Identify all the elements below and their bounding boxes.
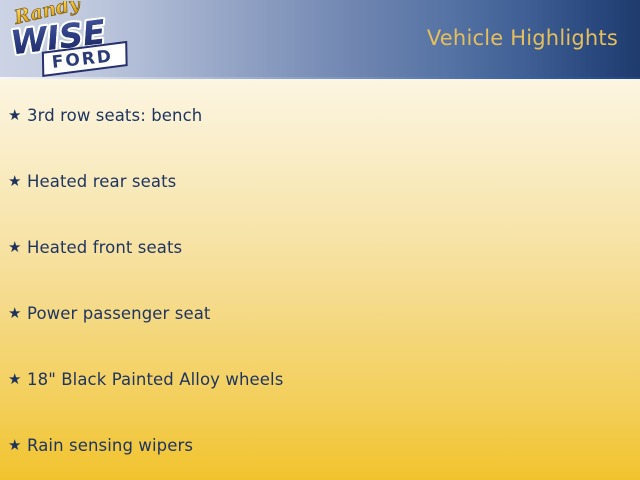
vehicle-highlights-slide: Randy WISE WISE FORD Vehicle Highlights … [0,0,640,480]
page-title: Vehicle Highlights [427,26,618,50]
list-item-label: 18" Black Painted Alloy wheels [27,370,283,389]
list-item: ★ 3rd row seats: bench [8,102,202,128]
star-icon: ★ [8,240,27,255]
list-item-label: Power passenger seat [27,304,211,323]
vehicle-highlights-list: ★ 3rd row seats: bench ★ Heated rear sea… [0,79,640,480]
list-item: ★ 18" Black Painted Alloy wheels [8,366,283,392]
list-item: ★ Heated front seats [8,234,182,260]
randy-wise-ford-logo: Randy WISE WISE FORD [4,1,136,77]
header-bar: Randy WISE WISE FORD Vehicle Highlights [0,0,640,79]
list-item-label: Rain sensing wipers [27,436,193,455]
list-item: ★ Power passenger seat [8,300,211,326]
list-item-label: 3rd row seats: bench [27,106,202,125]
list-item-label: Heated rear seats [27,172,176,191]
logo-svg: Randy WISE WISE FORD [4,1,136,77]
list-item: ★ Rain sensing wipers [8,432,193,458]
star-icon: ★ [8,108,27,123]
star-icon: ★ [8,372,27,387]
star-icon: ★ [8,174,27,189]
star-icon: ★ [8,306,27,321]
star-icon: ★ [8,438,27,453]
list-item-label: Heated front seats [27,238,182,257]
list-item: ★ Heated rear seats [8,168,176,194]
